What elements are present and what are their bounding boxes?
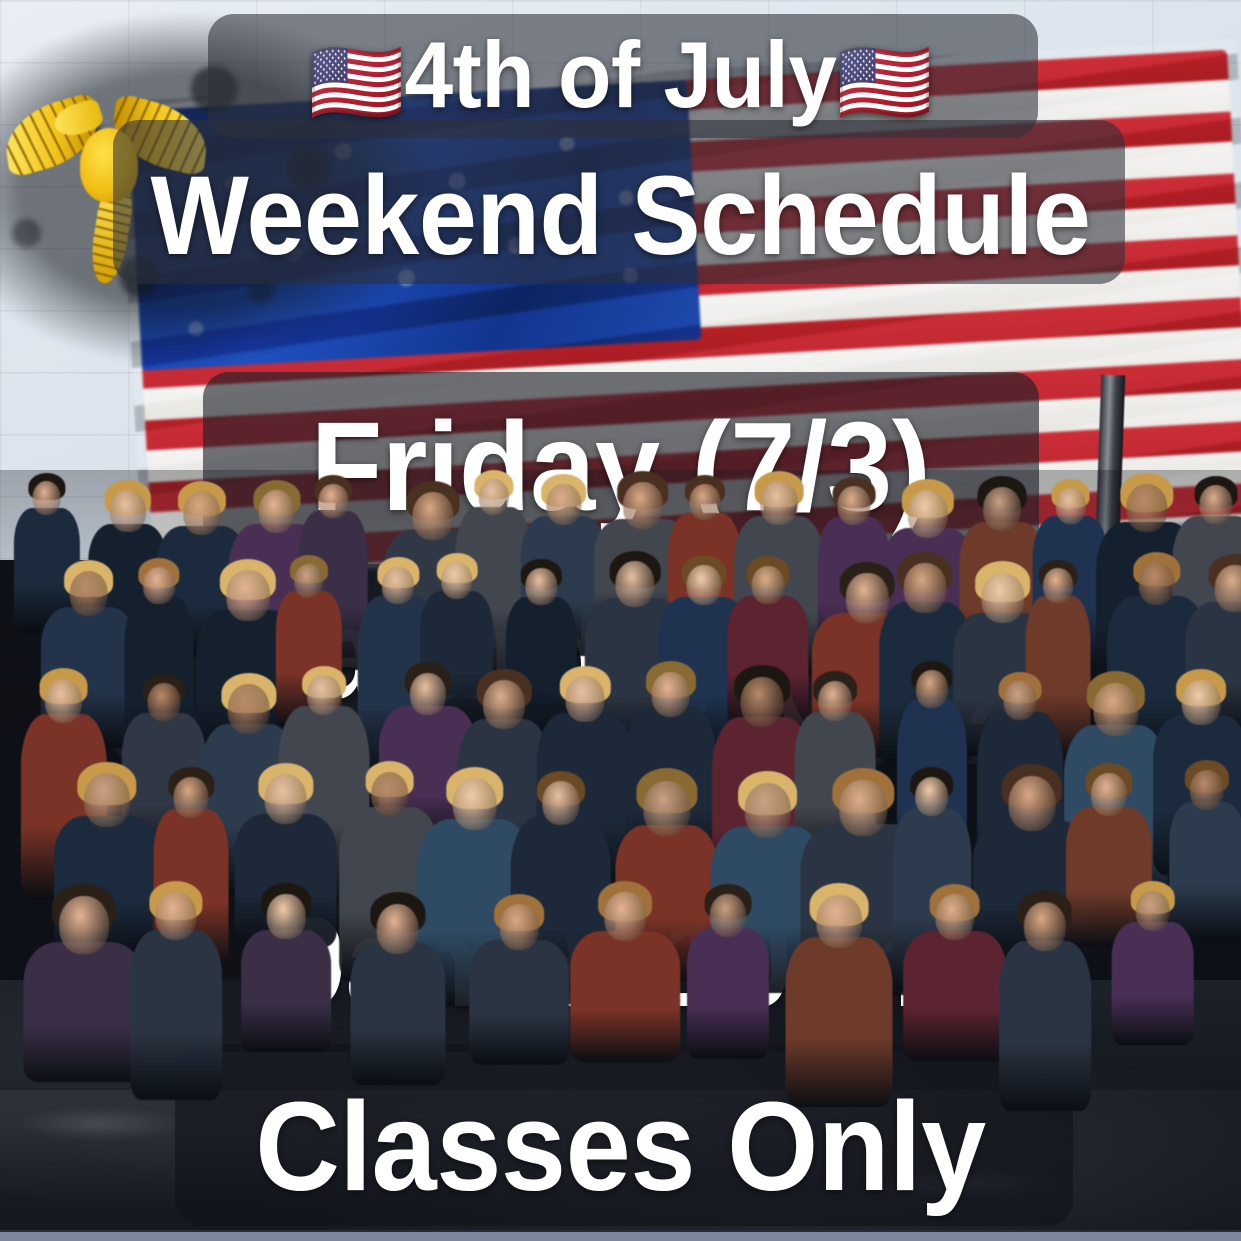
crowd-person bbox=[470, 897, 570, 1078]
crowd-person bbox=[571, 884, 681, 1076]
crowd-person-head bbox=[643, 781, 690, 836]
headline-subtitle: Weekend Schedule bbox=[43, 160, 1197, 272]
crowd-person-body bbox=[24, 942, 145, 1081]
group-photo-crowd bbox=[0, 470, 1241, 1090]
crowd-person-body bbox=[130, 930, 222, 1099]
crowd-person-head bbox=[174, 777, 209, 818]
crowd-person-head bbox=[441, 562, 472, 599]
crowd-person-head bbox=[1200, 485, 1233, 524]
crowd-person-body bbox=[242, 930, 332, 1053]
crowd-person-head bbox=[264, 774, 307, 824]
crowd-person-head bbox=[916, 670, 948, 707]
crowd-person-head bbox=[227, 684, 270, 734]
crowd-person-head bbox=[616, 561, 655, 607]
crowd-person-head bbox=[410, 673, 446, 715]
crowd-person-head bbox=[413, 492, 454, 540]
crowd-person-head bbox=[1138, 562, 1175, 605]
bottom-ui-band bbox=[0, 1230, 1241, 1241]
crowd-person-head bbox=[837, 486, 870, 525]
crowd-person-head bbox=[1190, 770, 1224, 810]
crowd-person bbox=[786, 886, 893, 1122]
crowd-person-head bbox=[983, 487, 1021, 531]
crowd-person-head bbox=[1056, 488, 1086, 523]
crowd-person bbox=[242, 886, 332, 1065]
crowd-person-head bbox=[147, 683, 180, 721]
crowd-person-head bbox=[904, 563, 947, 613]
crowd-person bbox=[903, 887, 1007, 1075]
crowd-person-head bbox=[294, 564, 323, 598]
crowd-person-head bbox=[546, 484, 581, 525]
crowd-person-head bbox=[259, 490, 296, 533]
crowd-person-head bbox=[752, 566, 785, 604]
crowd-person bbox=[687, 887, 769, 1072]
crowd-person-head bbox=[483, 680, 525, 729]
crowd-person-head bbox=[1215, 565, 1241, 613]
crowd-person-head bbox=[226, 570, 270, 621]
crowd-person-head bbox=[183, 491, 220, 535]
poster-canvas: 🇺🇸4th of July🇺🇸 Weekend Schedule Friday … bbox=[0, 0, 1241, 1241]
crowd-person-head bbox=[1043, 568, 1073, 603]
headline-title: 🇺🇸4th of July🇺🇸 bbox=[43, 28, 1197, 124]
crowd-person-body bbox=[350, 943, 445, 1085]
crowd-person-head bbox=[816, 895, 861, 948]
us-flag-icon-left: 🇺🇸 bbox=[309, 35, 405, 128]
crowd-person-body bbox=[903, 931, 1007, 1061]
crowd-person-head bbox=[1126, 484, 1167, 532]
crowd-person-head bbox=[566, 676, 605, 722]
crowd-person-head bbox=[981, 573, 1024, 623]
crowd-person-head bbox=[382, 567, 414, 604]
crowd-person-head bbox=[908, 490, 948, 537]
crowd-person-head bbox=[915, 777, 949, 816]
crowd-person-head bbox=[1182, 680, 1221, 725]
crowd-person-head bbox=[319, 484, 348, 518]
crowd-person-head bbox=[143, 567, 175, 604]
crowd-person-body bbox=[470, 940, 570, 1065]
us-flag-icon-right: 🇺🇸 bbox=[837, 35, 933, 128]
crowd-person-head bbox=[376, 904, 419, 954]
crowd-person-head bbox=[839, 780, 887, 836]
crowd-person-head bbox=[687, 565, 722, 606]
crowd-person-head bbox=[710, 894, 746, 936]
crowd-person-body bbox=[687, 928, 769, 1059]
crowd-person-head bbox=[741, 677, 784, 727]
crowd-person-head bbox=[32, 481, 61, 515]
crowd-person-head bbox=[500, 904, 538, 949]
crowd-person-head bbox=[935, 894, 974, 940]
crowd-person bbox=[24, 887, 145, 1097]
crowd-person-head bbox=[110, 490, 146, 532]
crowd-person-head bbox=[542, 781, 579, 825]
crowd-person-head bbox=[1091, 773, 1127, 815]
crowd-person-head bbox=[45, 679, 83, 723]
crowd-person-head bbox=[307, 675, 341, 715]
crowd-person-head bbox=[526, 568, 557, 605]
crowd-person-head bbox=[59, 896, 109, 954]
crowd-person-head bbox=[267, 894, 305, 939]
crowd-person-body bbox=[786, 937, 893, 1108]
crowd-person-head bbox=[156, 892, 197, 940]
crowd-person-head bbox=[1024, 902, 1066, 951]
crowd-person bbox=[130, 884, 222, 1114]
crowd-person-head bbox=[84, 773, 130, 827]
crowd-person-head bbox=[818, 681, 852, 721]
crowd-person-head bbox=[1093, 683, 1138, 736]
crowd-person-head bbox=[478, 479, 508, 515]
crowd-person-head bbox=[760, 481, 798, 525]
crowd-person-head bbox=[1004, 681, 1037, 720]
crowd-person-head bbox=[1008, 776, 1055, 831]
crowd-person-head bbox=[371, 772, 409, 816]
headline-title-text: 4th of July bbox=[404, 22, 836, 127]
crowd-person-head bbox=[651, 672, 690, 717]
crowd-person bbox=[350, 895, 445, 1099]
crowd-person-head bbox=[605, 892, 647, 941]
crowd-person-body bbox=[999, 941, 1091, 1112]
crowd-person-head bbox=[453, 778, 497, 830]
crowd-person bbox=[999, 893, 1091, 1125]
crowd-person-head bbox=[623, 482, 663, 529]
crowd-person bbox=[1111, 884, 1194, 1059]
crowd-person-head bbox=[1136, 891, 1170, 931]
crowd-person-head bbox=[69, 571, 107, 616]
crowd-person-head bbox=[744, 783, 790, 837]
crowd-person-body bbox=[1111, 922, 1194, 1045]
crowd-person-head bbox=[689, 484, 720, 520]
crowd-person-body bbox=[571, 931, 681, 1062]
